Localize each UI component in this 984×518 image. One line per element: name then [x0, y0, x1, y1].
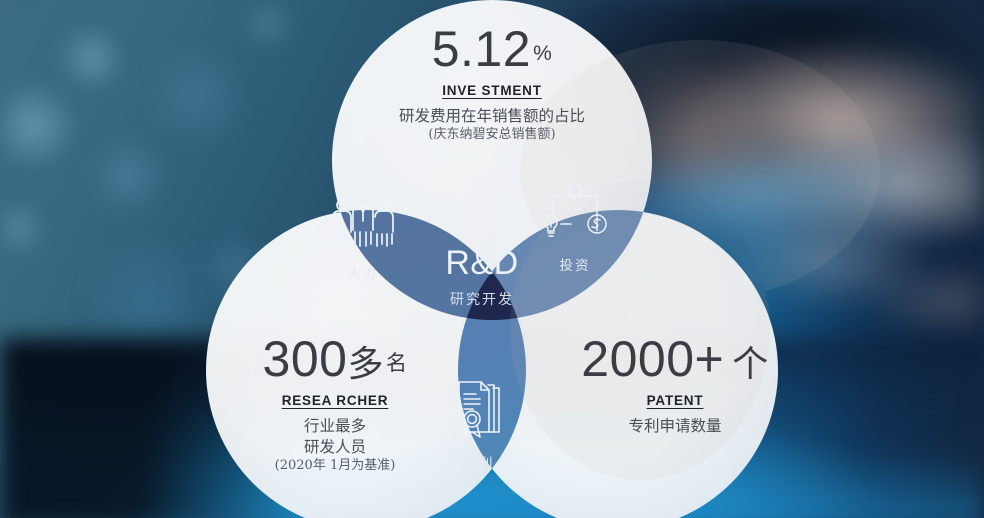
venn-sheen — [510, 40, 880, 480]
venn-diagram — [0, 0, 984, 518]
infographic-canvas: 5.12% INVE STMENT 研发费用在年销售额的占比 (庆东纳碧安总销售… — [0, 0, 984, 518]
